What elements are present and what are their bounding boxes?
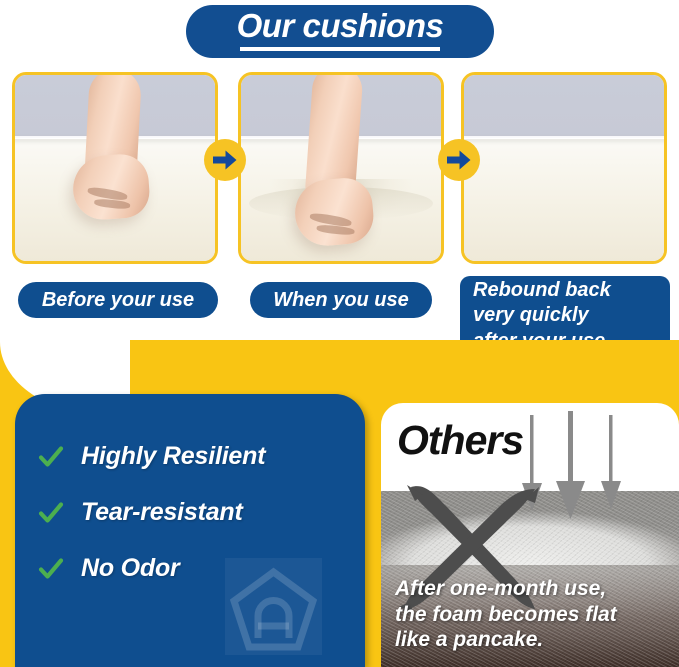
step-label-text: When you use (273, 289, 409, 312)
others-caption-line: the foam becomes flat (395, 602, 617, 628)
feature-label: No Odor (81, 554, 180, 583)
page-title: Our cushions (237, 9, 444, 42)
others-caption-line: After one-month use, (395, 576, 617, 602)
step-label-text: Before your use (42, 289, 194, 312)
feature-item-no-odor: No Odor (38, 554, 180, 583)
feature-item-highly-resilient: Highly Resilient (38, 442, 265, 471)
step-label-line: Rebound back (473, 278, 611, 303)
check-icon (38, 500, 64, 526)
step-label-during: When you use (250, 282, 432, 318)
others-comparison-card: Others (381, 403, 679, 667)
step-arrow-2 (438, 139, 480, 181)
arrow-right-icon (447, 150, 471, 170)
title-underline (240, 47, 440, 51)
step-arrow-1 (204, 139, 246, 181)
arrow-right-icon (213, 150, 237, 170)
foam-body (464, 138, 664, 261)
feature-label: Highly Resilient (81, 442, 265, 471)
feature-item-tear-resistant: Tear-resistant (38, 498, 243, 527)
infographic-page: Our cushions (0, 0, 679, 667)
page-title-badge: Our cushions (186, 5, 494, 58)
others-title: Others (397, 417, 523, 464)
knuckle-crease (94, 198, 131, 210)
check-icon (38, 556, 64, 582)
step-photo-during (238, 72, 444, 264)
step-label-line: very quickly (473, 303, 589, 328)
others-caption-line: like a pancake. (395, 627, 617, 653)
feature-label: Tear-resistant (81, 498, 243, 527)
check-icon (38, 444, 64, 470)
foam-edge (461, 136, 667, 139)
step-photo-before (12, 72, 218, 264)
step-label-before: Before your use (18, 282, 218, 318)
others-caption: After one-month use, the foam becomes fl… (395, 576, 617, 653)
step-photo-rebound (461, 72, 667, 264)
house-pentagon-logo-icon (225, 558, 322, 655)
